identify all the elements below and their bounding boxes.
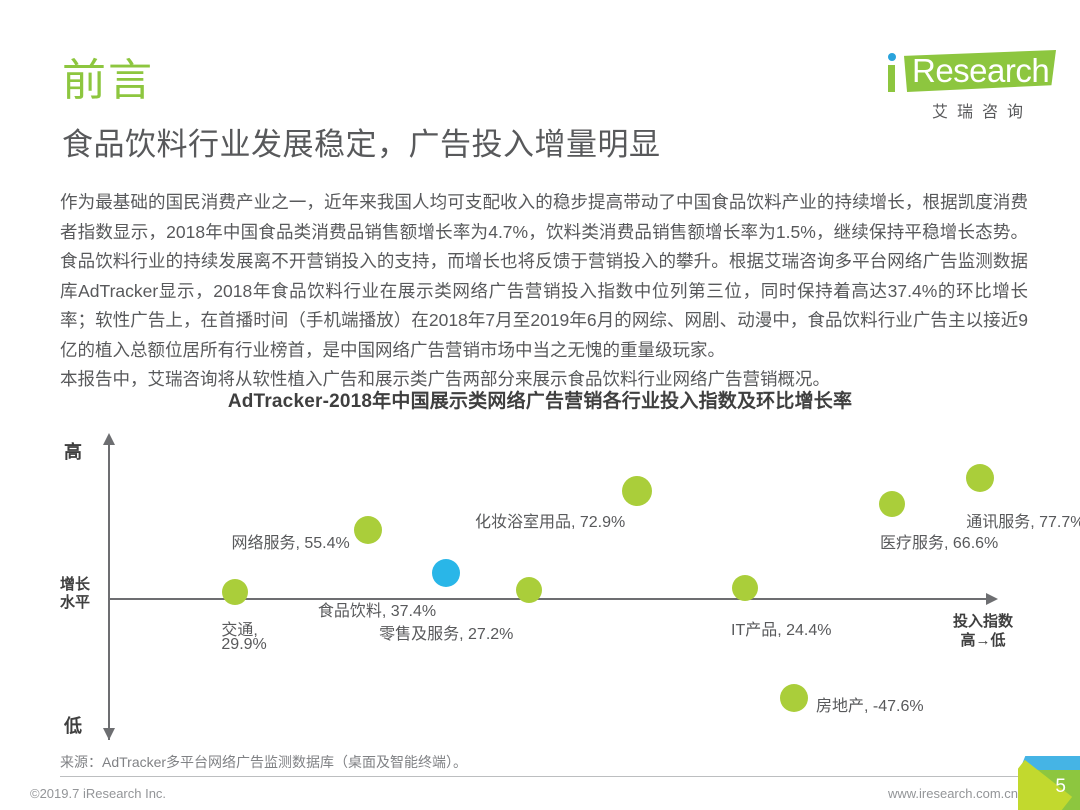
y-axis-line	[108, 444, 110, 740]
logo-i-dot-icon	[888, 53, 896, 61]
page-title: 前言	[62, 55, 154, 107]
data-point-label: 化妆浴室用品, 72.9%	[475, 508, 625, 532]
scatter-chart: 高 低 增长水平 投入指数 高→低 交通,29.9%网络服务, 55.4%食品饮…	[60, 430, 1020, 750]
data-point-label: 通讯服务, 77.7%	[966, 508, 1080, 532]
footer-website: www.iresearch.com.cn	[888, 786, 1018, 801]
y-axis-arrow-up-icon	[103, 433, 115, 445]
page-number: 5	[1055, 776, 1066, 798]
x-axis-arrow-right-icon	[986, 593, 998, 605]
y-axis-label-low: 低	[64, 712, 82, 738]
y-axis-title: 增长水平	[60, 576, 104, 612]
logo-chinese-name: 艾瑞咨询	[906, 98, 1058, 122]
data-point-label: 食品饮料, 37.4%	[318, 597, 436, 621]
data-point-label: IT产品, 24.4%	[731, 616, 831, 640]
data-point-bubble	[432, 559, 460, 587]
chart-title: AdTracker-2018年中国展示类网络广告营销各行业投入指数及环比增长率	[0, 386, 1080, 413]
logo-mark: Research	[882, 48, 1058, 96]
data-point-bubble	[780, 684, 808, 712]
logo-i-stem-icon	[888, 65, 895, 92]
y-axis-arrow-down-icon	[103, 728, 115, 740]
data-point-label: 医疗服务, 66.6%	[880, 529, 998, 553]
data-point-bubble	[354, 516, 382, 544]
data-point-bubble	[966, 464, 994, 492]
body-paragraph-1: 作为最基础的国民消费产业之一，近年来我国人均可支配收入的稳步提高带动了中国食品饮…	[60, 188, 1028, 365]
x-axis-title-main: 投入指数	[953, 613, 1013, 630]
iresearch-logo: Research 艾瑞咨询	[882, 48, 1058, 124]
body-text: 作为最基础的国民消费产业之一，近年来我国人均可支配收入的稳步提高带动了中国食品饮…	[60, 188, 1028, 395]
slide-page: 前言 食品饮料行业发展稳定，广告投入增量明显 Research 艾瑞咨询 作为最…	[0, 0, 1080, 810]
data-point-label-second-line: 29.9%	[221, 636, 266, 654]
footer-copyright: ©2019.7 iResearch Inc.	[30, 786, 166, 801]
data-point-bubble	[622, 476, 652, 506]
y-axis-label-high: 高	[64, 438, 82, 464]
footer-divider	[60, 776, 1028, 777]
x-axis-title-sub: 高→低	[960, 632, 1005, 649]
data-point-label: 网络服务, 55.4%	[231, 529, 349, 553]
page-subtitle: 食品饮料行业发展稳定，广告投入增量明显	[62, 126, 661, 164]
data-point-bubble	[222, 579, 248, 605]
logo-wordmark: Research	[912, 52, 1049, 90]
data-point-label: 房地产, -47.6%	[816, 692, 924, 716]
page-corner-decoration	[1018, 756, 1080, 810]
data-point-bubble	[732, 575, 758, 601]
source-note: 来源：AdTracker多平台网络广告监测数据库（桌面及智能终端）。	[60, 752, 467, 772]
data-point-bubble	[879, 491, 905, 517]
x-axis-title: 投入指数 高→低	[938, 612, 1028, 650]
data-point-label: 零售及服务, 27.2%	[379, 620, 513, 644]
